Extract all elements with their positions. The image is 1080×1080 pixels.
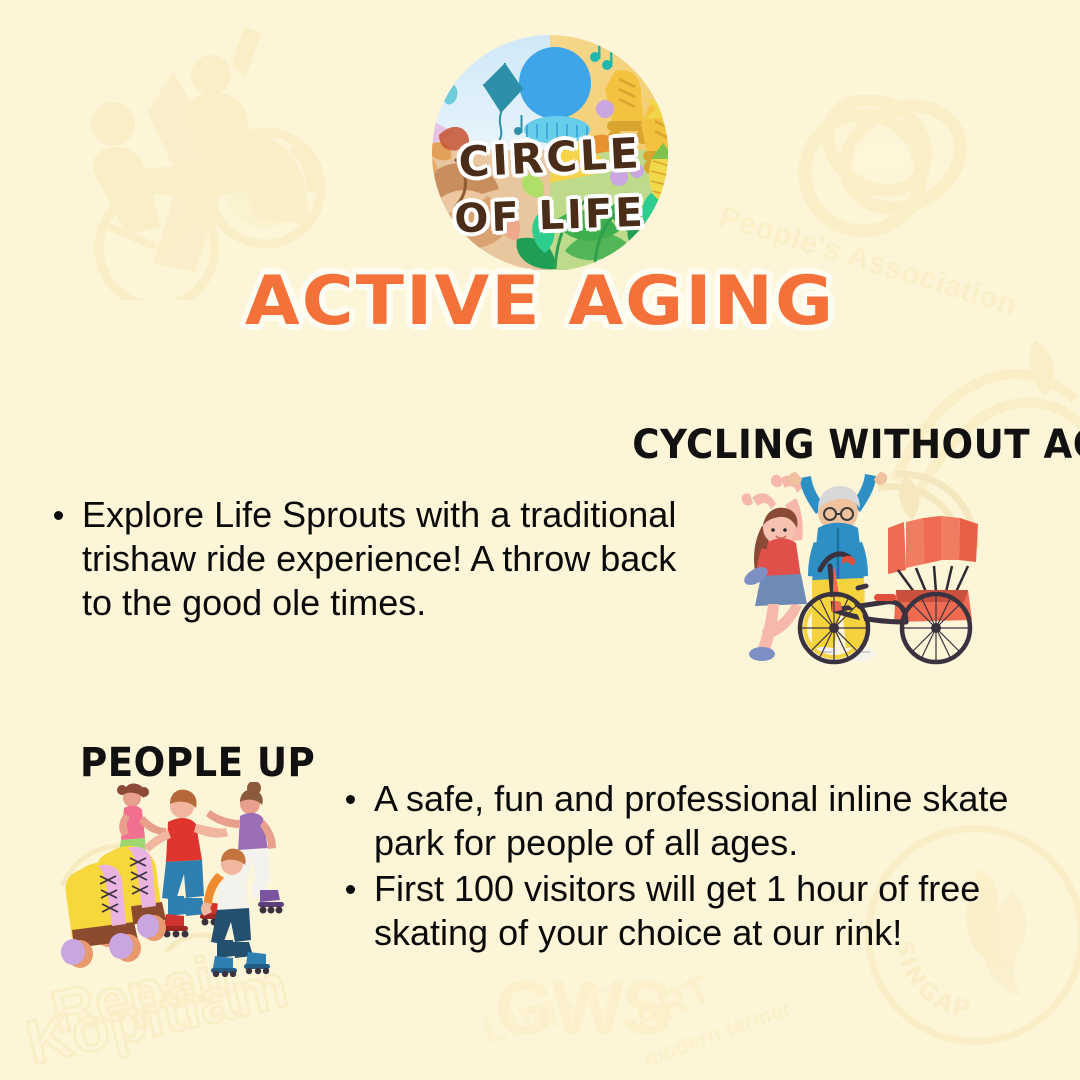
gws-watermark-text: GWS: [495, 965, 671, 1052]
list-item: A safe, fun and professional inline skat…: [340, 777, 1040, 865]
pa-rings-icon: [785, 95, 995, 245]
trishaw-watermark-icon: [35, 20, 345, 300]
trishaw-with-seniors-illustration: [710, 470, 980, 670]
gws-living-watermark-text: LIVING: [478, 976, 624, 1053]
circle-of-life-logo: CIRCLE OF LIFE: [405, 25, 695, 270]
trademark-watermark-symbol: ™: [268, 980, 281, 995]
bullet-list-cycling: Explore Life Sprouts with a traditional …: [48, 493, 708, 627]
section-heading-people-up: PEOPLE UP: [80, 740, 378, 786]
roller-skates-and-skaters-illustration: [58, 782, 348, 977]
list-item: First 100 visitors will get 1 hour of fr…: [340, 867, 1040, 955]
page-title: ACTIVE AGING: [0, 262, 1080, 341]
section-cycling-without-age: CYCLING WITHOUT AGE: [600, 422, 1060, 468]
list-item: Explore Life Sprouts with a traditional …: [48, 493, 708, 625]
arts-watermark-text: ARTS: [0, 330, 29, 668]
bullet-list-people-up: A safe, fun and professional inline skat…: [340, 777, 1040, 957]
section-heading-cycling: CYCLING WITHOUT AGE: [632, 422, 1060, 468]
poster-root: People's Association ARTS Repair Kopitia…: [0, 0, 1080, 1080]
circle-of-life-collage-icon: [405, 25, 695, 270]
gws-art-watermark-text: ART: [625, 967, 719, 1043]
gws-farmer-watermark-text: modern farmer: [640, 995, 795, 1073]
